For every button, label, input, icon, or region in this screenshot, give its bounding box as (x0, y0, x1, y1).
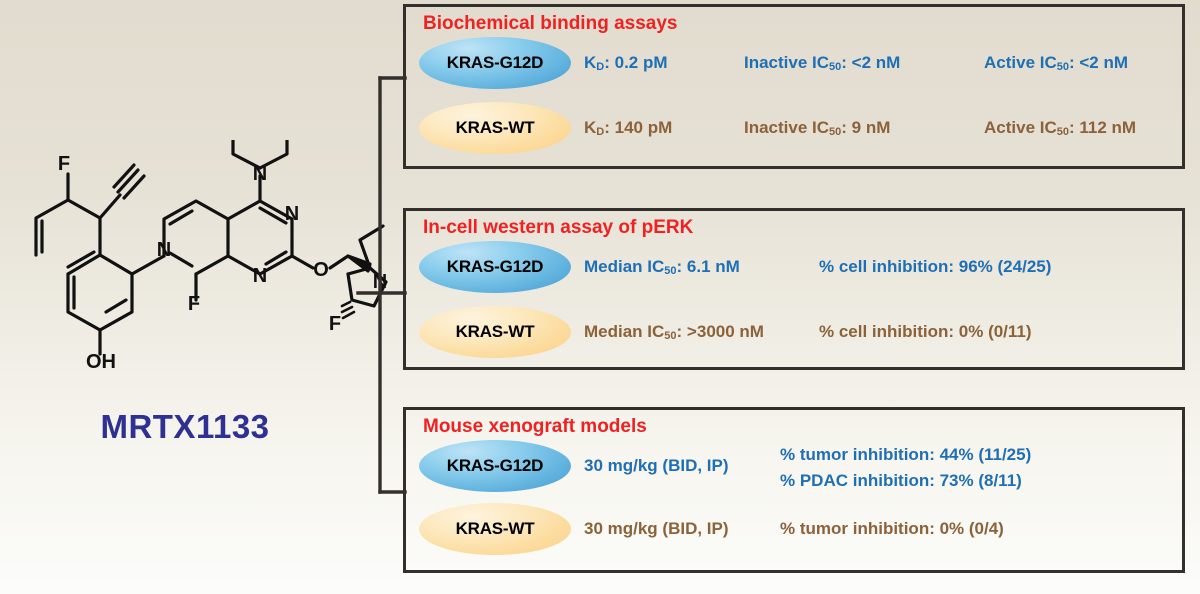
atom-label-N-pyridine: N (157, 239, 171, 261)
field-tumor-inhibition: % tumor inhibition: 44% (11/25) (780, 442, 1031, 468)
field-key: Inactive IC (744, 53, 829, 73)
panel-mouse-xenograft-models: Mouse xenograft models KRAS-G12D 30 mg/k… (403, 407, 1185, 573)
field-key: Active IC (984, 118, 1057, 138)
field-active-ic50: Active IC50: <2 nM (984, 37, 1128, 89)
field-value: : <2 nM (1069, 53, 1128, 73)
field-dose: 30 mg/kg (BID, IP) (584, 503, 729, 555)
field-group: 30 mg/kg (BID, IP) % tumor inhibition: 4… (584, 440, 1184, 492)
row-kras-wt: KRAS-WT Median IC50: >3000 nM % cell inh… (406, 306, 1182, 358)
pill-label: KRAS-G12D (447, 456, 543, 476)
atom-label-F-aryl: F (58, 153, 70, 175)
row-kras-wt: KRAS-WT 30 mg/kg (BID, IP) % tumor inhib… (406, 503, 1182, 555)
field-pdac-inhibition: % PDAC inhibition: 73% (8/11) (780, 468, 1022, 494)
field-key: Inactive IC (744, 118, 829, 138)
panel-in-cell-western-assay: In-cell western assay of pERK KRAS-G12D … (403, 208, 1185, 370)
field-value: : 9 nM (841, 118, 890, 138)
row-kras-g12d: KRAS-G12D Median IC50: 6.1 nM % cell inh… (406, 241, 1182, 293)
field-group: KD: 0.2 pM Inactive IC50: <2 nM Active I… (584, 37, 1184, 89)
field-value: : 6.1 nM (677, 257, 740, 277)
pill-kras-wt: KRAS-WT (419, 503, 571, 555)
field-tumor-inhibition: % tumor inhibition: 0% (0/4) (780, 503, 1004, 555)
field-subscript: 50 (1057, 61, 1069, 73)
bracket-connector (350, 60, 410, 510)
field-subscript: 50 (829, 126, 841, 138)
field-key: K (584, 53, 596, 73)
field-value: : <2 nM (841, 53, 900, 73)
molecule-structure: H N N F OH N F N N O N F MRTX1133 (0, 0, 396, 594)
row-kras-g12d: KRAS-G12D KD: 0.2 pM Inactive IC50: <2 n… (406, 37, 1182, 89)
pill-label: KRAS-WT (456, 118, 535, 138)
field-subscript: D (596, 61, 604, 73)
molecule-name-label: MRTX1133 (0, 408, 370, 446)
field-inactive-ic50: Inactive IC50: 9 nM (744, 102, 890, 154)
pill-kras-wt: KRAS-WT (419, 102, 571, 154)
field-key: Median IC (584, 322, 664, 342)
row-kras-g12d: KRAS-G12D 30 mg/kg (BID, IP) % tumor inh… (406, 440, 1182, 492)
field-median-ic50: Median IC50: 6.1 nM (584, 241, 740, 293)
pill-kras-wt: KRAS-WT (419, 306, 571, 358)
field-active-ic50: Active IC50: 112 nM (984, 102, 1136, 154)
row-kras-wt: KRAS-WT KD: 140 pM Inactive IC50: 9 nM A… (406, 102, 1182, 154)
field-value: : 140 pM (604, 118, 672, 138)
pill-label: KRAS-WT (456, 322, 535, 342)
mrtx1133-skeletal-structure: H N N F OH N F N N O N F (8, 140, 388, 430)
pill-kras-g12d: KRAS-G12D (419, 440, 571, 492)
pill-label: KRAS-WT (456, 519, 535, 539)
atom-label-O-ether: O (313, 259, 329, 281)
field-subscript: 50 (829, 61, 841, 73)
pill-label: KRAS-G12D (447, 257, 543, 277)
atom-label-OH: OH (86, 351, 116, 373)
atom-label-N-piperazine: N (253, 163, 267, 185)
figure-canvas: H N N F OH N F N N O N F MRTX1133 (0, 0, 1200, 594)
panel-title: Biochemical binding assays (423, 13, 677, 35)
panel-biochemical-binding-assays: Biochemical binding assays KRAS-G12D KD:… (403, 4, 1185, 169)
panel-title: In-cell western assay of pERK (423, 217, 693, 239)
field-value: : >3000 nM (677, 322, 764, 342)
atom-label-F-pyrrolizidine: F (329, 313, 341, 335)
field-group: Median IC50: >3000 nM % cell inhibition:… (584, 306, 1184, 358)
field-inactive-ic50: Inactive IC50: <2 nM (744, 37, 900, 89)
pill-kras-g12d: KRAS-G12D (419, 241, 571, 293)
field-cell-inhibition: % cell inhibition: 0% (0/11) (819, 306, 1032, 358)
panel-title: Mouse xenograft models (423, 416, 647, 438)
field-dose: 30 mg/kg (BID, IP) (584, 440, 729, 492)
field-group: KD: 140 pM Inactive IC50: 9 nM Active IC… (584, 102, 1184, 154)
field-key: Active IC (984, 53, 1057, 73)
pill-label: KRAS-G12D (447, 53, 543, 73)
field-subscript: 50 (1057, 126, 1069, 138)
field-group: 30 mg/kg (BID, IP) % tumor inhibition: 0… (584, 503, 1184, 555)
atom-label-F-bicycle: F (188, 293, 200, 315)
field-cell-inhibition: % cell inhibition: 96% (24/25) (819, 241, 1051, 293)
field-subscript: 50 (664, 265, 676, 277)
atom-label-N-pyrimidine-2: N (253, 265, 267, 287)
field-median-ic50: Median IC50: >3000 nM (584, 306, 764, 358)
field-subscript: 50 (664, 330, 676, 342)
field-value: : 112 nM (1069, 118, 1136, 138)
field-kd: KD: 0.2 pM (584, 37, 668, 89)
atom-label-N-pyrimidine-1: N (285, 203, 299, 225)
field-value: : 0.2 pM (604, 53, 667, 73)
field-key: Median IC (584, 257, 664, 277)
field-key: K (584, 118, 596, 138)
field-subscript: D (596, 126, 604, 138)
field-kd: KD: 140 pM (584, 102, 672, 154)
field-group: Median IC50: 6.1 nM % cell inhibition: 9… (584, 241, 1184, 293)
pill-kras-g12d: KRAS-G12D (419, 37, 571, 89)
